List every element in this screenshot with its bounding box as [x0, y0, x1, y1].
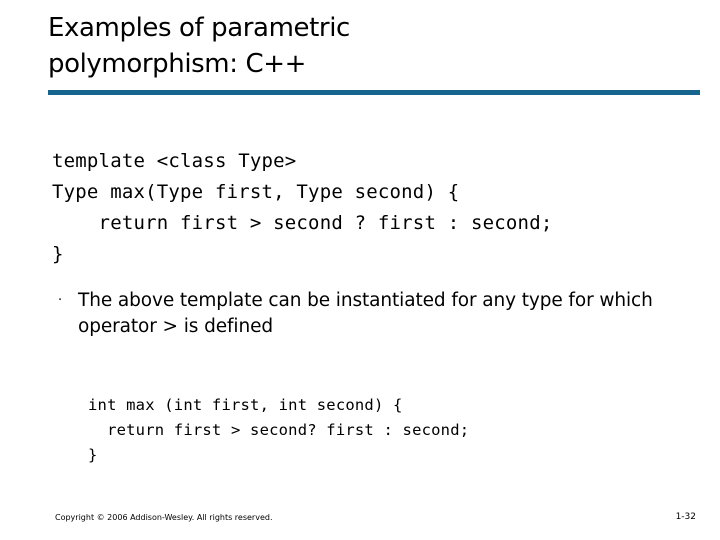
slide-canvas: Examples of parametric polymorphism: C++…: [0, 0, 720, 540]
title-divider: [48, 90, 700, 95]
footer-page-number: 1-32: [676, 512, 696, 523]
code-block-instance: int max (int first, int second) { return…: [88, 393, 469, 468]
bullet-marker-icon: ·: [58, 288, 78, 314]
list-item-label: The above template can be instantiated f…: [78, 288, 678, 340]
list-item: · The above template can be instantiated…: [58, 288, 678, 340]
code-block-template: template <class Type> Type max(Type firs…: [52, 146, 552, 270]
page-title: Examples of parametric polymorphism: C++: [48, 10, 708, 82]
footer-copyright: Copyright © 2006 Addison-Wesley. All rig…: [55, 512, 273, 523]
